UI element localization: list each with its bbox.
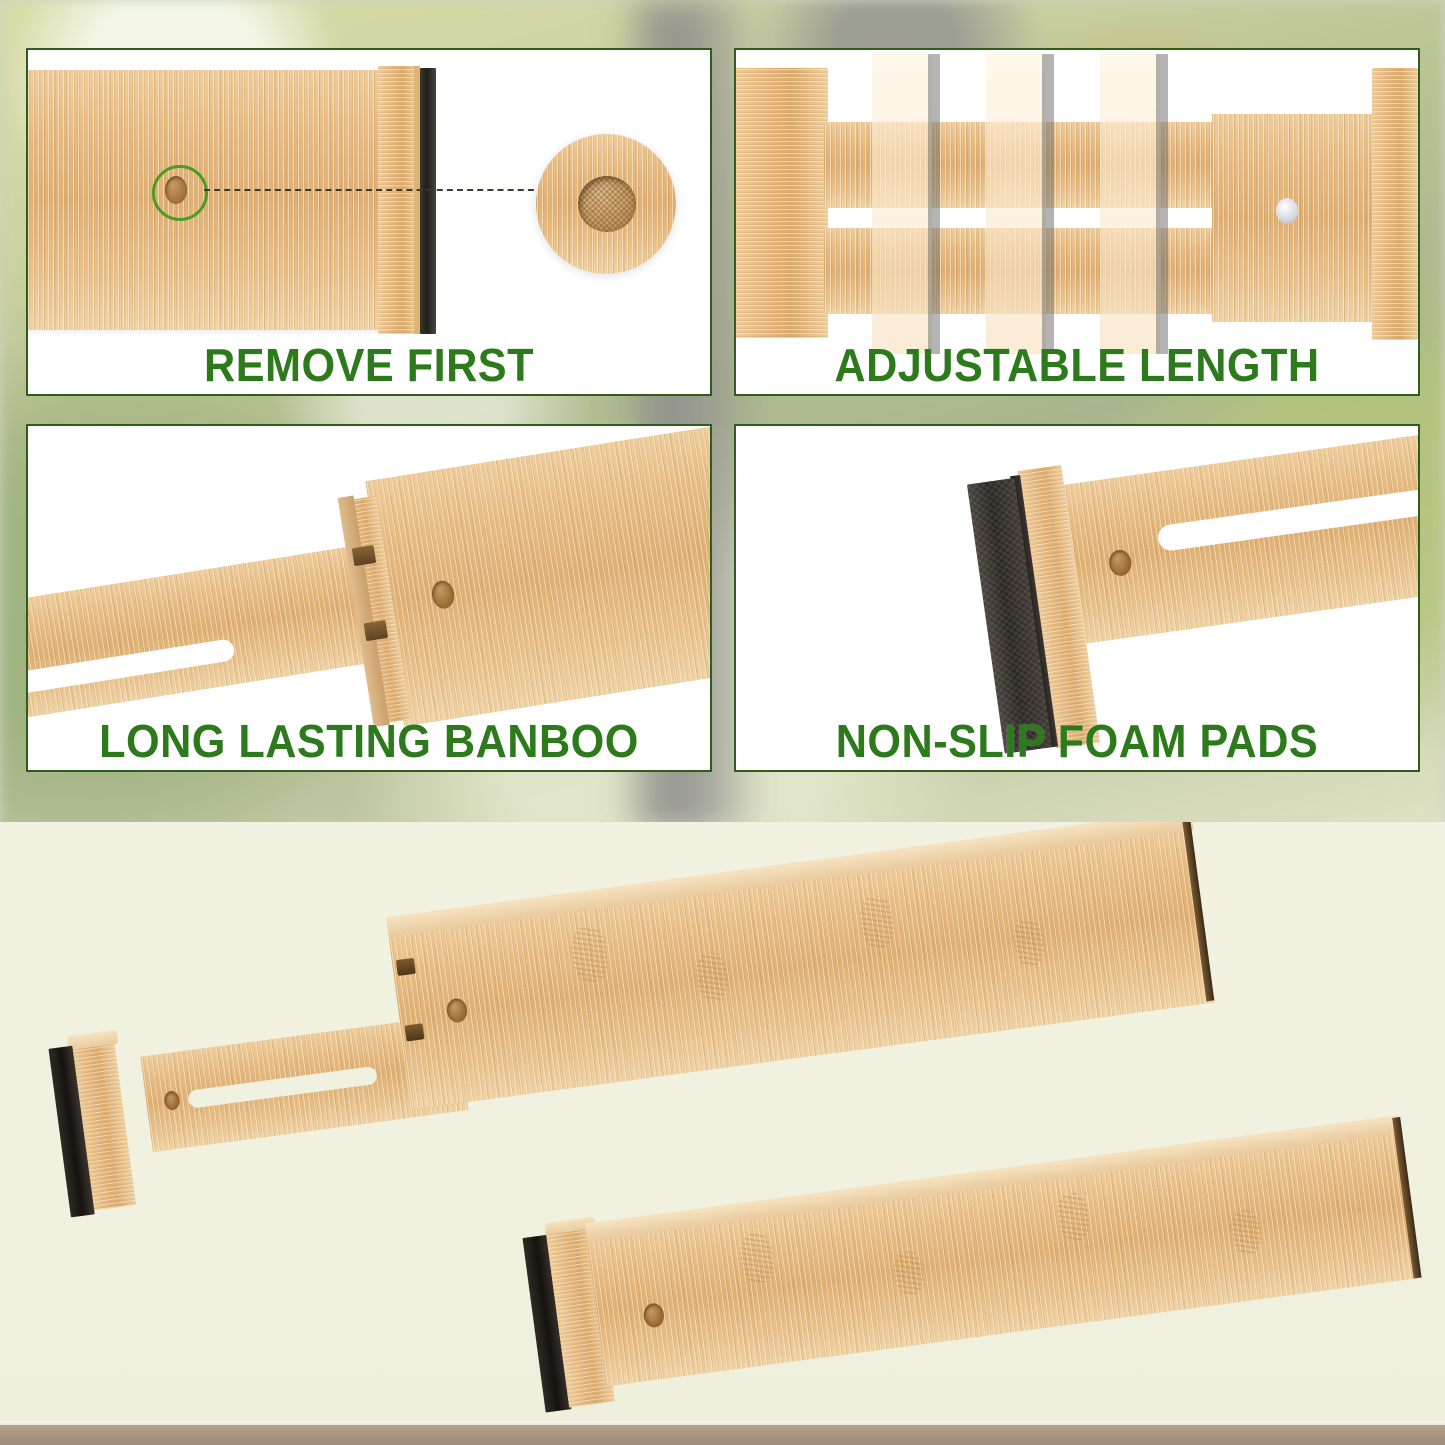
- bamboo-node: [858, 894, 897, 950]
- adjustment-screw: [1276, 198, 1298, 224]
- ghost-foam-3: [1156, 54, 1168, 354]
- ghost-position-2: [986, 54, 1046, 354]
- bamboo-end-cap: [378, 66, 418, 334]
- bamboo-node: [738, 1231, 776, 1285]
- panel-caption-long-lasting-bamboo: LONG LASTING BANBOO: [48, 718, 689, 764]
- right-end-cap: [1372, 68, 1418, 340]
- highlight-ring-icon: [152, 165, 208, 221]
- feature-panel-adjustable-length[interactable]: ADJUSTABLE LENGTH: [734, 48, 1420, 396]
- bamboo-node: [1229, 1209, 1263, 1256]
- feature-panel-remove-first[interactable]: REMOVE FIRST: [26, 48, 712, 396]
- foam-pad: [420, 68, 436, 334]
- ghost-foam-2: [1042, 54, 1054, 354]
- bamboo-node: [892, 1250, 926, 1297]
- feature-panel-non-slip-foam-pads[interactable]: NON-SLIP FOAM PADS: [734, 424, 1420, 772]
- bamboo-node: [1055, 1191, 1091, 1243]
- outer-board: [365, 426, 712, 726]
- joint-notch-lower: [364, 620, 389, 641]
- left-end-cap: [734, 68, 828, 338]
- joint-notch-upper: [396, 958, 416, 976]
- product-infographic: REMOVE FIRST ADJUSTABLE LENGTH: [0, 0, 1445, 1445]
- magnified-screw-hole: [578, 176, 636, 232]
- ghost-position-3: [1100, 54, 1160, 354]
- hero-product-shot: [0, 822, 1445, 1445]
- joint-notch-upper: [352, 545, 377, 566]
- dashed-leader-icon: [204, 189, 544, 191]
- feature-panel-long-lasting-bamboo[interactable]: LONG LASTING BANBOO: [26, 424, 712, 772]
- outer-board: [1212, 114, 1382, 322]
- bamboo-node: [694, 951, 730, 1003]
- table-surface: [0, 1425, 1445, 1445]
- magnified-hole-callout: [536, 134, 676, 274]
- ghost-foam-1: [928, 54, 940, 354]
- bamboo-node: [569, 924, 610, 984]
- panel-caption-remove-first: REMOVE FIRST: [48, 342, 689, 388]
- panel-caption-non-slip-foam-pads: NON-SLIP FOAM PADS: [756, 718, 1397, 764]
- bamboo-node: [1012, 919, 1046, 968]
- panel-caption-adjustable-length: ADJUSTABLE LENGTH: [756, 342, 1397, 388]
- ghost-position-1: [872, 54, 932, 354]
- joint-notch-lower: [405, 1023, 425, 1041]
